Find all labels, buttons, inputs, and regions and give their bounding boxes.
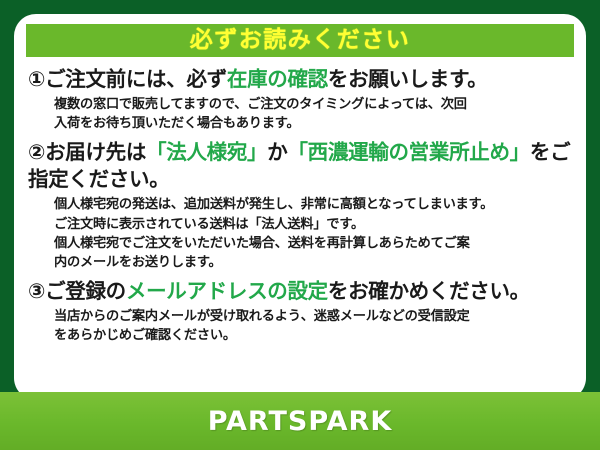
notice-item-3-heading: ③ご登録のメールアドレスの設定をお確かめください。: [28, 278, 574, 305]
notice-item-2-body-line-4: 内のメールをお送りします。: [54, 253, 570, 272]
notice-item-2-highlight-1: 「法人様宛」: [146, 140, 267, 164]
notice-item-1: ①ご注文前には、必ず在庫の確認をお願いします。 複数の窓口で販売してますので、ご…: [28, 66, 574, 133]
notice-panel: 必ずお読みください ①ご注文前には、必ず在庫の確認をお願いします。 複数の窓口で…: [14, 14, 586, 400]
notice-item-3-highlight: メールアドレスの設定: [126, 279, 328, 303]
brand-logo-text: PARTSPARK: [208, 406, 393, 437]
notice-item-1-body-line-1: 複数の窓口で販売してますので、ご注文のタイミングによっては、次回: [54, 95, 570, 114]
notice-item-3-body: 当店からのご案内メールが受け取れるよう、迷惑メールなどの受信設定 をあらかじめご…: [54, 307, 570, 345]
footer-band: PARTSPARK: [0, 392, 600, 450]
notice-item-1-heading: ①ご注文前には、必ず在庫の確認をお願いします。: [28, 66, 574, 93]
notice-item-3-head-suffix: をお確かめください。: [328, 279, 530, 303]
notice-item-3-head-prefix: ご登録の: [45, 279, 126, 303]
list-marker-2: ②: [28, 140, 45, 164]
page-title: 必ずお読みください: [190, 29, 411, 52]
notice-item-1-body-line-2: 入荷をお待ち頂いただく場合もあります。: [54, 114, 570, 133]
notice-item-3-body-line-2: をあらかじめご確認ください。: [54, 326, 570, 345]
notice-item-2-highlight-2: 「西濃運輸の営業所止め」: [287, 140, 529, 164]
notice-item-2-body-line-3: 個人様宅宛でご注文をいただいた場合、送料を再計算しあらためてご案: [54, 234, 570, 253]
notice-item-1-head-prefix: ご注文前には、必ず: [45, 67, 227, 91]
notice-item-2-heading: ②お届け先は「法人様宛」か「西濃運輸の営業所止め」をご指定ください。: [28, 139, 574, 193]
notice-item-2: ②お届け先は「法人様宛」か「西濃運輸の営業所止め」をご指定ください。 個人様宅宛…: [28, 139, 574, 272]
notice-banner: 必ずお読みください ①ご注文前には、必ず在庫の確認をお願いします。 複数の窓口で…: [0, 0, 600, 450]
notice-item-3: ③ご登録のメールアドレスの設定をお確かめください。 当店からのご案内メールが受け…: [28, 278, 574, 345]
notice-item-2-body-line-1: 個人様宅宛の発送は、追加送料が発生し、非常に高額となってしまいます。: [54, 195, 570, 214]
notice-item-1-highlight: 在庫の確認: [227, 67, 328, 91]
notice-title-bar: 必ずお読みください: [26, 24, 574, 57]
notice-item-2-head-prefix: お届け先は: [45, 140, 146, 164]
notice-item-2-body: 個人様宅宛の発送は、追加送料が発生し、非常に高額となってしまいます。 ご注文時に…: [54, 195, 570, 272]
notice-item-1-body: 複数の窓口で販売してますので、ご注文のタイミングによっては、次回 入荷をお待ち頂…: [54, 95, 570, 133]
notice-body: ①ご注文前には、必ず在庫の確認をお願いします。 複数の窓口で販売してますので、ご…: [14, 66, 586, 351]
list-marker-3: ③: [28, 279, 45, 303]
notice-item-1-head-suffix: をお願いします。: [328, 67, 488, 91]
notice-item-3-body-line-1: 当店からのご案内メールが受け取れるよう、迷惑メールなどの受信設定: [54, 307, 570, 326]
list-marker-1: ①: [28, 67, 45, 91]
notice-item-2-head-middle: か: [267, 140, 287, 164]
notice-item-2-body-line-2: ご注文時に表示されている送料は「法人送料」です。: [54, 215, 570, 234]
